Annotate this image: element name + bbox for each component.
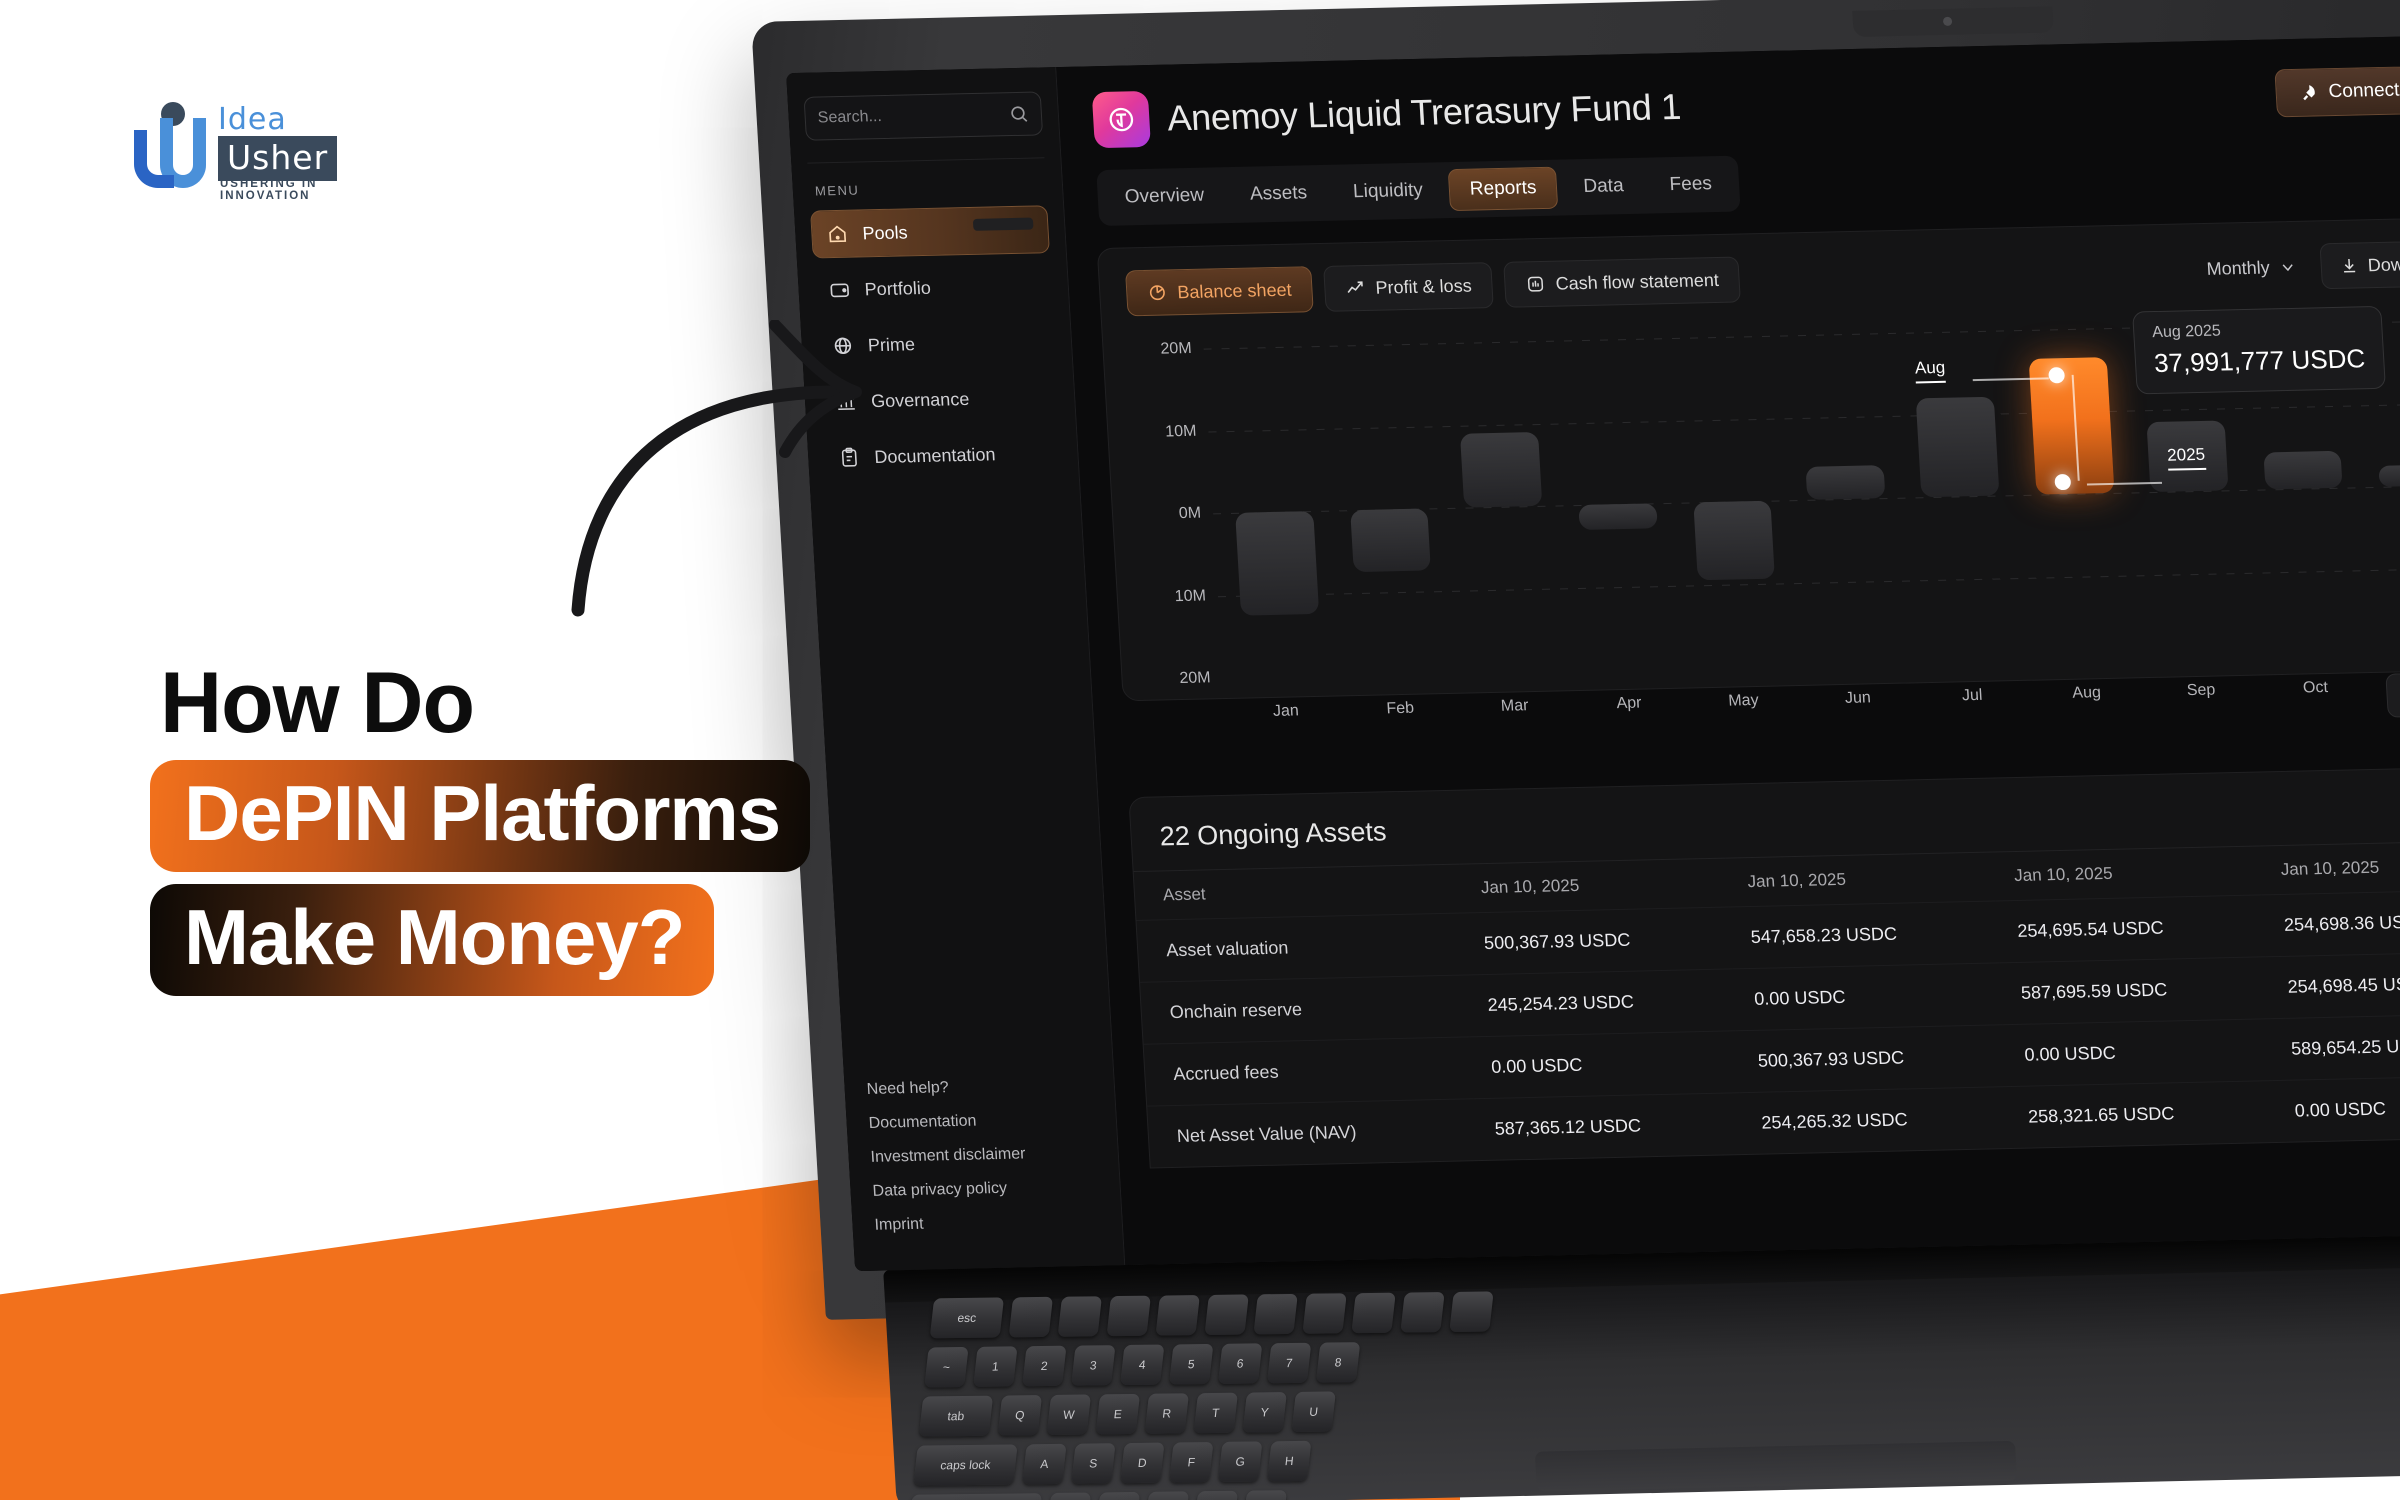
download-label: Download bbox=[2367, 253, 2400, 276]
main-content: Anemoy Liquid Trerasury Fund 1 Connect W… bbox=[1056, 34, 2400, 1265]
chart-bar[interactable] bbox=[1460, 432, 1542, 508]
search-placeholder: Search... bbox=[817, 105, 1001, 127]
y-tick: 10M bbox=[1165, 422, 1197, 441]
search-input[interactable]: Search... bbox=[804, 91, 1044, 140]
keyboard-key[interactable]: caps lock bbox=[913, 1444, 1017, 1485]
marker-label-aug: Aug bbox=[1914, 358, 1946, 384]
connect-wallet-button[interactable]: Connect Wallet bbox=[2274, 65, 2400, 118]
keyboard-key[interactable]: C bbox=[1145, 1491, 1189, 1500]
chart-bar[interactable] bbox=[1693, 501, 1775, 581]
tab-overview[interactable]: Overview bbox=[1104, 175, 1226, 218]
keyboard-key[interactable]: esc bbox=[930, 1297, 1004, 1338]
sidebar-item-pools[interactable]: Pools bbox=[810, 205, 1050, 258]
y-tick: 20M bbox=[1160, 340, 1192, 359]
ongoing-assets-card: 22 Ongoing Assets Asset Jan 10, 2025 Jan… bbox=[1128, 766, 2400, 1169]
keyboard-key[interactable] bbox=[1058, 1296, 1102, 1337]
laptop-notch bbox=[1852, 6, 2054, 36]
column-header-date: Jan 10, 2025 bbox=[2259, 840, 2400, 895]
balance-sheet-chart: 20M 10M 0M 10M 20M bbox=[1130, 320, 2400, 680]
wallet-icon bbox=[828, 279, 851, 301]
row-value: 0.00 USDC bbox=[2003, 1019, 2273, 1087]
sidebar-item-label: Portfolio bbox=[864, 277, 931, 299]
cash-flow-label: Cash flow statement bbox=[1555, 269, 1719, 294]
keyboard-key[interactable]: U bbox=[1291, 1391, 1335, 1432]
keyboard-key[interactable] bbox=[1107, 1296, 1151, 1337]
x-tick: Feb bbox=[1343, 699, 1458, 720]
curved-arrow-icon bbox=[560, 320, 900, 620]
row-value: 0.00 USDC bbox=[1733, 963, 2003, 1031]
logo-usher-box: Usher bbox=[218, 136, 337, 181]
keyboard-key[interactable] bbox=[1009, 1297, 1053, 1338]
laptop-mockup: Search... MENU Pools bbox=[840, 0, 2400, 1498]
keyboard-key[interactable] bbox=[1351, 1293, 1395, 1334]
balance-sheet-label: Balance sheet bbox=[1177, 279, 1292, 303]
tab-fees[interactable]: Fees bbox=[1648, 164, 1733, 206]
rocket-icon bbox=[2298, 82, 2319, 102]
home-icon bbox=[826, 223, 849, 245]
cash-flow-button[interactable]: Cash flow statement bbox=[1503, 257, 1741, 308]
chart-bar[interactable] bbox=[1916, 397, 1999, 498]
chart-bar-slot[interactable] bbox=[1780, 333, 1913, 665]
logo-mark-icon bbox=[132, 102, 206, 190]
download-button[interactable]: Download bbox=[2319, 240, 2400, 289]
keyboard-key[interactable] bbox=[1449, 1291, 1493, 1332]
period-select[interactable]: Monthly bbox=[2194, 256, 2309, 280]
report-toolbar: Balance sheet Profit & loss bbox=[1125, 240, 2400, 316]
keyboard-key[interactable] bbox=[1253, 1294, 1297, 1335]
keyboard-key[interactable]: G bbox=[1218, 1441, 1262, 1482]
headline-line-1: How Do bbox=[160, 660, 810, 746]
chart-bar-slot[interactable] bbox=[1551, 338, 1684, 670]
keyboard-key[interactable]: shift bbox=[908, 1493, 1042, 1500]
keyboard-key[interactable]: X bbox=[1096, 1492, 1140, 1500]
keyboard-key[interactable]: 4 bbox=[1120, 1345, 1164, 1386]
keyboard-key[interactable]: Q bbox=[998, 1395, 1042, 1436]
profit-loss-button[interactable]: Profit & loss bbox=[1323, 262, 1494, 312]
keyboard-key[interactable]: 2 bbox=[1022, 1346, 1066, 1387]
keyboard-key[interactable]: 6 bbox=[1218, 1343, 1262, 1384]
row-value: 254,698.36 USDC bbox=[2262, 889, 2400, 957]
chart-bar[interactable] bbox=[1235, 511, 1319, 616]
row-value: 500,367.93 USDC bbox=[1736, 1025, 2006, 1093]
headline-line-2: DePIN Platforms bbox=[150, 760, 810, 872]
chart-bar[interactable] bbox=[1579, 503, 1658, 529]
idea-usher-logo: Idea Usher USHERING IN INNOVATION bbox=[132, 98, 382, 190]
profit-loss-label: Profit & loss bbox=[1375, 275, 1472, 298]
chart-bar-slot[interactable] bbox=[1322, 343, 1455, 675]
headline-line-3: Make Money? bbox=[150, 884, 714, 996]
keyboard-key[interactable]: 1 bbox=[973, 1346, 1017, 1387]
keyboard-key[interactable]: V bbox=[1194, 1491, 1238, 1500]
row-value: 258,321.65 USDC bbox=[2006, 1081, 2276, 1148]
column-header-date: Jan 10, 2025 bbox=[1726, 852, 1995, 907]
chart-bar[interactable] bbox=[2378, 465, 2400, 487]
keyboard-key[interactable]: 7 bbox=[1267, 1343, 1311, 1384]
menu-section-label: MENU bbox=[815, 178, 1047, 198]
row-value: 587,365.12 USDC bbox=[1473, 1093, 1743, 1160]
x-tick: Nov bbox=[2372, 675, 2400, 696]
footer-link-documentation[interactable]: Documentation bbox=[862, 1110, 1100, 1133]
row-value: 589,654.25 USDC bbox=[2269, 1013, 2400, 1081]
keyboard-key[interactable]: 3 bbox=[1071, 1345, 1115, 1386]
column-header-date: Jan 10, 2025 bbox=[1993, 846, 2262, 901]
logo-tagline: USHERING IN INNOVATION bbox=[220, 178, 382, 202]
keyboard-key[interactable] bbox=[1155, 1295, 1199, 1336]
row-value: 547,658.23 USDC bbox=[1729, 901, 1999, 969]
y-tick: 10M bbox=[1174, 587, 1206, 606]
marker-label-2025: 2025 bbox=[2167, 445, 2206, 471]
keyboard-key[interactable] bbox=[1204, 1294, 1248, 1335]
pie-icon bbox=[1147, 282, 1168, 302]
webcam-icon bbox=[1943, 17, 1953, 26]
keyboard-key[interactable] bbox=[1302, 1293, 1346, 1334]
download-icon bbox=[2339, 256, 2359, 275]
connect-wallet-label: Connect Wallet bbox=[2328, 78, 2400, 103]
x-tick: Apr bbox=[1571, 694, 1686, 715]
column-header-asset: Asset bbox=[1134, 864, 1463, 920]
keyboard-key[interactable]: S bbox=[1071, 1443, 1115, 1484]
keyboard-key[interactable]: Z bbox=[1047, 1493, 1091, 1500]
headline-row-2: DePIN Platforms bbox=[150, 760, 810, 872]
x-tick: Sep bbox=[2143, 681, 2258, 702]
x-tick: Jun bbox=[1800, 688, 1915, 709]
tab-assets[interactable]: Assets bbox=[1229, 173, 1328, 215]
search-icon bbox=[1008, 104, 1029, 124]
bars-icon bbox=[1525, 274, 1546, 294]
chart-bar-slot[interactable] bbox=[1436, 341, 1569, 673]
keyboard-key[interactable]: 5 bbox=[1169, 1344, 1213, 1385]
tab-data[interactable]: Data bbox=[1562, 166, 1644, 208]
sidebar-item-label: Pools bbox=[862, 222, 908, 244]
row-label: Asset valuation bbox=[1136, 913, 1465, 982]
tooltip-date: Aug 2025 bbox=[2152, 319, 2364, 342]
keyboard-key[interactable]: B bbox=[1243, 1490, 1287, 1500]
chart-plot-area: Aug 2025 37,991,777 USDC Aug 2025 bbox=[1204, 320, 2400, 678]
keyboard-key[interactable] bbox=[1400, 1292, 1444, 1333]
keyboard-key[interactable]: W bbox=[1047, 1394, 1091, 1435]
chart-x-axis: JanFebMarAprMayJunJulAugSepOctNov bbox=[1224, 675, 2400, 722]
x-tick: Mar bbox=[1457, 696, 1572, 717]
chart-bar-slot[interactable] bbox=[1665, 336, 1798, 668]
keyboard-key[interactable]: D bbox=[1120, 1443, 1164, 1484]
assets-table: Asset Jan 10, 2025 Jan 10, 2025 Jan 10, … bbox=[1134, 839, 2400, 1167]
footer-link-investment-disclaimer[interactable]: Investment disclaimer bbox=[864, 1144, 1102, 1167]
row-label: Onchain reserve bbox=[1140, 975, 1469, 1044]
row-value: 254,695.54 USDC bbox=[1996, 895, 2266, 963]
row-label: Accrued fees bbox=[1144, 1037, 1473, 1106]
laptop-foot bbox=[973, 218, 1034, 231]
keyboard-key[interactable]: E bbox=[1096, 1394, 1140, 1435]
row-value: 0.00 USDC bbox=[2273, 1075, 2400, 1142]
row-label: Net Asset Value (NAV) bbox=[1147, 1099, 1476, 1168]
x-tick: Aug bbox=[2029, 683, 2144, 704]
line-chart-icon bbox=[1345, 278, 1366, 298]
keyboard-key[interactable]: H bbox=[1267, 1441, 1311, 1482]
logo-usher-text: Usher bbox=[227, 138, 328, 177]
keyboard-key[interactable]: T bbox=[1194, 1393, 1238, 1434]
chart-bar-slot[interactable] bbox=[1208, 346, 1341, 678]
headline-row-3: Make Money? bbox=[150, 884, 810, 996]
footer-link-data-privacy-policy[interactable]: Data privacy policy bbox=[866, 1178, 1104, 1201]
footer-link-imprint[interactable]: Imprint bbox=[868, 1212, 1106, 1235]
report-card: Balance sheet Profit & loss bbox=[1097, 216, 2400, 701]
row-value: 254,265.32 USDC bbox=[1740, 1087, 2010, 1154]
chart-bar[interactable] bbox=[2263, 451, 2343, 490]
y-tick: 20M bbox=[1179, 669, 1211, 688]
keyboard-key[interactable]: ~ bbox=[924, 1347, 968, 1388]
laptop-base: esc~12345678tabQWERTYUcaps lockASDFGHshi… bbox=[883, 1230, 2400, 1500]
keyboard-key[interactable]: 8 bbox=[1316, 1342, 1360, 1383]
keyboard-key[interactable]: A bbox=[1022, 1444, 1066, 1485]
row-value: 587,695.59 USDC bbox=[1999, 957, 2269, 1025]
x-tick: Jan bbox=[1228, 701, 1343, 722]
poster-canvas: Idea Usher USHERING IN INNOVATION How Do… bbox=[0, 0, 2400, 1500]
chart-tooltip: Aug 2025 37,991,777 USDC bbox=[2132, 306, 2386, 395]
balance-sheet-button[interactable]: Balance sheet bbox=[1125, 266, 1314, 316]
chart-bar[interactable] bbox=[1350, 508, 1431, 572]
sidebar-item-portfolio[interactable]: Portfolio bbox=[813, 261, 1053, 314]
tab-liquidity[interactable]: Liquidity bbox=[1332, 170, 1444, 212]
chart-bar[interactable] bbox=[1806, 465, 1886, 500]
tab-bar: Overview Assets Liquidity Reports Data F… bbox=[1096, 156, 1740, 226]
row-value: 245,254.23 USDC bbox=[1466, 969, 1736, 1037]
column-header-date: Jan 10, 2025 bbox=[1460, 858, 1729, 913]
tooltip-value: 37,991,777 USDC bbox=[2153, 343, 2366, 379]
row-value: 500,367.93 USDC bbox=[1462, 907, 1732, 975]
sidebar-divider bbox=[807, 157, 1044, 163]
tab-reports[interactable]: Reports bbox=[1448, 167, 1559, 211]
chevron-down-icon bbox=[2278, 258, 2297, 276]
x-tick: May bbox=[1686, 691, 1801, 712]
keyboard-key[interactable]: F bbox=[1169, 1442, 1213, 1483]
row-value: 254,698.45 USDC bbox=[2266, 951, 2400, 1019]
period-select-value: Monthly bbox=[2206, 257, 2270, 279]
row-value: 0.00 USDC bbox=[1469, 1031, 1739, 1099]
keyboard-key[interactable]: Y bbox=[1242, 1392, 1286, 1433]
logo-idea-text: Idea bbox=[218, 102, 287, 137]
poster-headline: How Do DePIN Platforms Make Money? bbox=[150, 660, 810, 996]
fund-avatar-icon bbox=[1092, 91, 1151, 148]
x-tick: Jul bbox=[1915, 686, 2030, 707]
x-tick: Oct bbox=[2258, 678, 2373, 699]
keyboard-key[interactable]: R bbox=[1145, 1393, 1189, 1434]
chart-marker-top bbox=[2048, 367, 2065, 383]
keyboard-key[interactable]: tab bbox=[919, 1396, 993, 1437]
y-tick: 0M bbox=[1178, 505, 1201, 523]
page-title: Anemoy Liquid Trerasury Fund 1 bbox=[1166, 86, 1682, 140]
